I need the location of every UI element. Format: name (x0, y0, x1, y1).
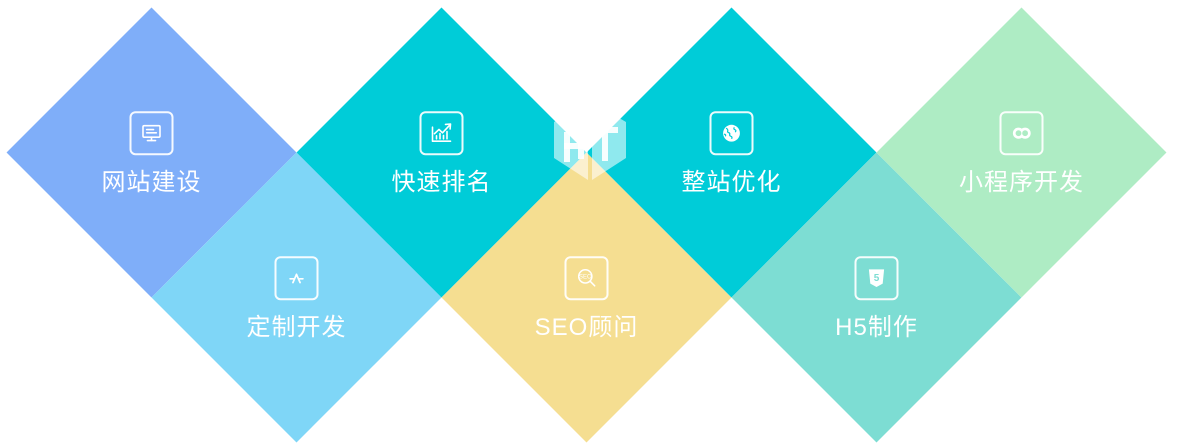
chart-growth-icon (420, 111, 464, 155)
diamond-label: 定制开发 (247, 316, 347, 340)
diamond-tile-mini-program-development[interactable]: 小程序开发 (877, 8, 1167, 298)
diamond-label: 小程序开发 (959, 171, 1084, 195)
diamond-label: H5制作 (835, 316, 918, 340)
diamond-label: SEO顾问 (535, 316, 639, 340)
diamond-grid-diagram: 网站建设 定制开发 (0, 0, 1178, 447)
globe-icon (710, 111, 754, 155)
linked-circles-icon (1000, 111, 1044, 155)
monitor-icon (130, 111, 174, 155)
